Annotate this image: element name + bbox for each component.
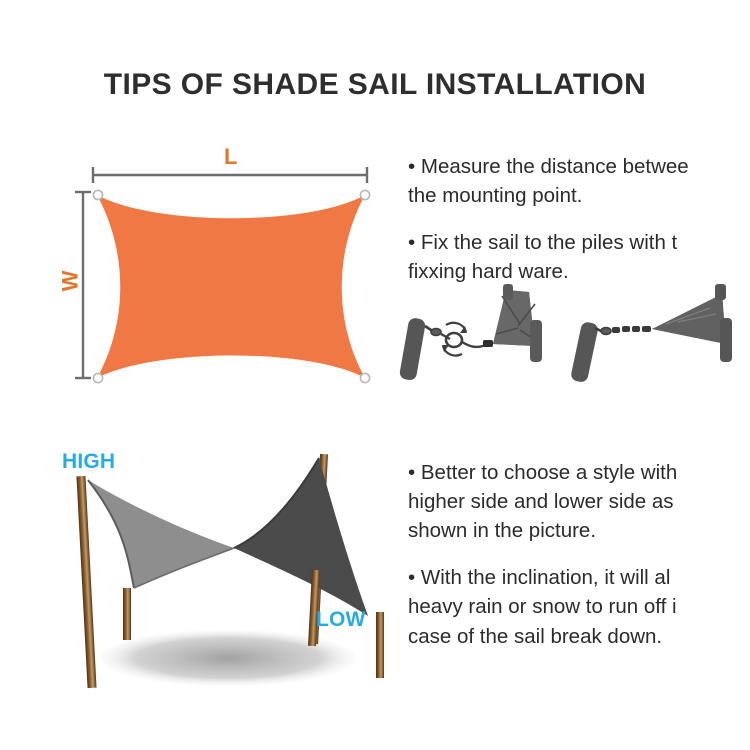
sail-corner-icon (493, 284, 542, 362)
pole-right-low (376, 612, 384, 678)
instruction-paragraph-4: • With the inclination, it will al heavy… (408, 563, 750, 650)
high-low-sail-scene: HIGH LOW (38, 440, 406, 710)
hardware-pole-turnbuckle-sail-corner-icon (398, 282, 573, 386)
instruction-line: case of the sail break down. (408, 622, 750, 651)
shade-sail-svg (60, 140, 405, 400)
hardware-pole-chain-sail-corner-icon (570, 282, 748, 386)
top-instructions-text: • Measure the distance betwee the mounti… (408, 152, 750, 286)
instruction-paragraph-1: • Measure the distance betwee the mounti… (408, 152, 750, 210)
instruction-line: higher side and lower side as (408, 487, 750, 516)
rope-icon (462, 340, 493, 347)
instruction-line: • Measure the distance betwee (408, 152, 750, 181)
chain-icon (612, 326, 651, 333)
instruction-line: the mounting point. (408, 181, 750, 210)
instruction-line: shown in the picture. (408, 516, 750, 545)
sail-corner-icon (652, 284, 732, 362)
turnbuckle-icon (441, 323, 467, 356)
mounting-pole-icon (399, 317, 427, 381)
infographic-page: TIPS OF SHADE SAIL INSTALLATION (0, 0, 750, 750)
pole-left-high (76, 476, 96, 688)
page-title: TIPS OF SHADE SAIL INSTALLATION (0, 68, 750, 102)
hardware-illustrations (398, 282, 750, 386)
instruction-line: • Better to choose a style with (408, 458, 750, 487)
instruction-line: • With the inclination, it will al (408, 563, 750, 592)
instruction-paragraph-2: • Fix the sail to the piles with t fixxi… (408, 228, 750, 286)
scene-svg (38, 440, 406, 710)
mounting-pole-icon (570, 321, 599, 383)
low-label: LOW (316, 608, 366, 632)
shade-sail-dimension-diagram: L W (60, 140, 405, 400)
instruction-paragraph-3: • Better to choose a style with higher s… (408, 458, 750, 545)
bottom-instructions-text: • Better to choose a style with higher s… (408, 458, 750, 651)
instruction-line: heavy rain or snow to run off i (408, 592, 750, 621)
sail-light (88, 480, 234, 588)
length-label: L (224, 144, 237, 170)
width-label: W (57, 271, 83, 292)
instruction-line: • Fix the sail to the piles with t (408, 228, 750, 257)
high-label: HIGH (62, 450, 115, 474)
sail-body (97, 195, 365, 378)
pole-middle-front (123, 588, 131, 640)
carabiner-icon (425, 326, 441, 335)
